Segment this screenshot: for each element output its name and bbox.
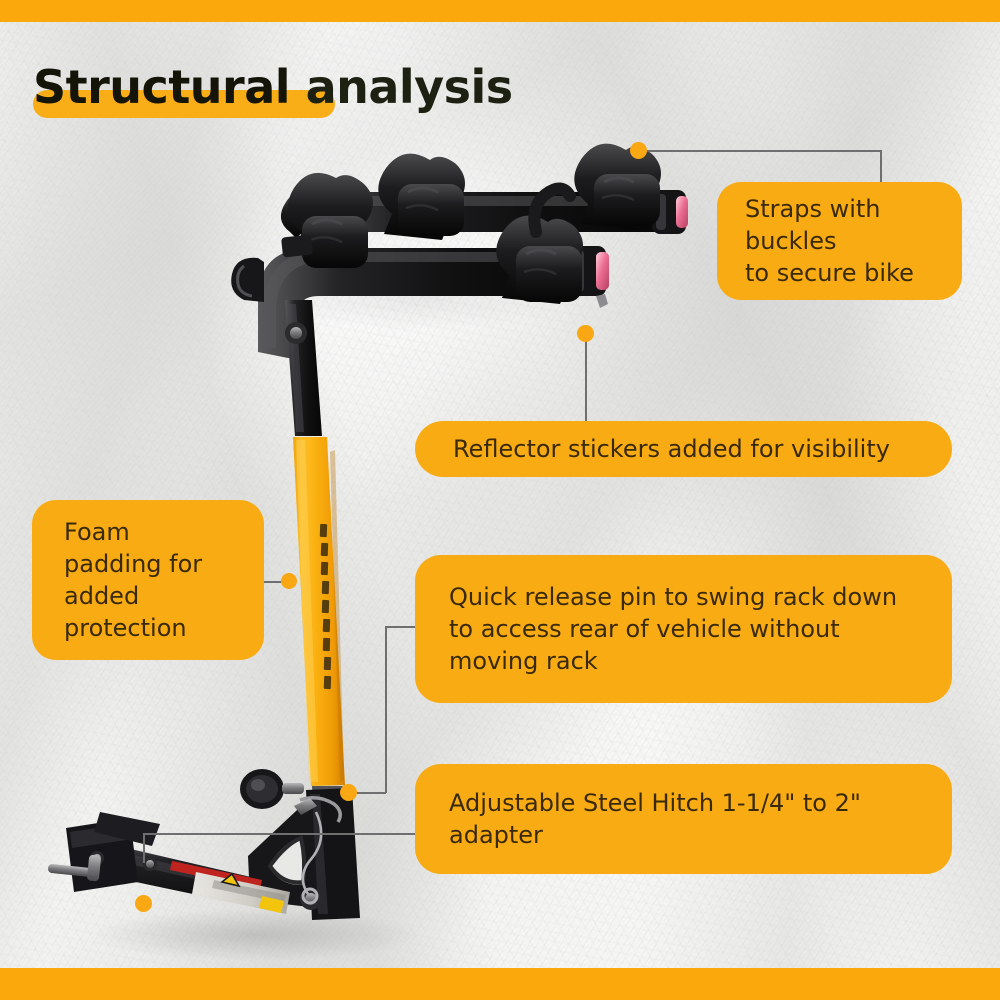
callout-foam-padding[interactable]: Foam padding for added protection [32,500,264,660]
hitch-adjust-knob [240,769,304,809]
top-accent-bar [0,0,1000,22]
bottom-accent-bar [0,968,1000,1000]
leader-line-quickrelease-vertical [385,626,387,793]
callout-quick-release-pin[interactable]: Quick release pin to swing rack down to … [415,555,952,703]
leader-line-hitch-horizontal [143,833,417,835]
callout-straps-with-buckles[interactable]: Straps with buckles to secure bike [717,182,962,300]
reflector-sticker-upper [676,196,688,228]
callout-reflector-stickers[interactable]: Reflector stickers added for visibility [415,421,952,477]
leader-line-quickrelease-bottom [356,792,386,794]
callout-reflector-text: Reflector stickers added for visibility [453,433,952,465]
page-title: Structural analysis [33,56,513,126]
reflector-sticker-lower [596,252,609,290]
strap-cradle-upper-middle [378,154,465,240]
callout-foam-text: Foam padding for added protection [64,516,264,644]
adjustable-hitch-assembly [48,769,360,920]
title-rest-word: analysis [290,60,513,114]
callout-dot-quickrelease [340,784,357,801]
callout-dot-hitch [135,895,152,912]
leader-line-quickrelease-top [385,626,417,628]
callout-adjustable-hitch[interactable]: Adjustable Steel Hitch 1-1/4" to 2" adap… [415,764,952,874]
callout-quickrelease-text: Quick release pin to swing rack down to … [449,581,952,677]
callout-hitch-text: Adjustable Steel Hitch 1-1/4" to 2" adap… [449,787,952,851]
callout-dot-reflector [577,325,594,342]
leader-line-straps-vertical [880,150,882,186]
title-highlight-word: Structural [33,60,290,114]
callout-straps-text: Straps with buckles to secure bike [745,193,962,289]
callout-dot-foam [281,573,297,589]
leader-line-hitch-vertical [143,833,145,863]
strap-cradle-upper-right [574,144,661,230]
infographic-page: Structural analysis Straps with buckles … [0,0,1000,1000]
yellow-foam-padded-mast [293,437,345,786]
leader-line-straps-horizontal [646,150,882,152]
leader-line-reflector-vertical [585,334,587,426]
callout-dot-straps [630,142,647,159]
